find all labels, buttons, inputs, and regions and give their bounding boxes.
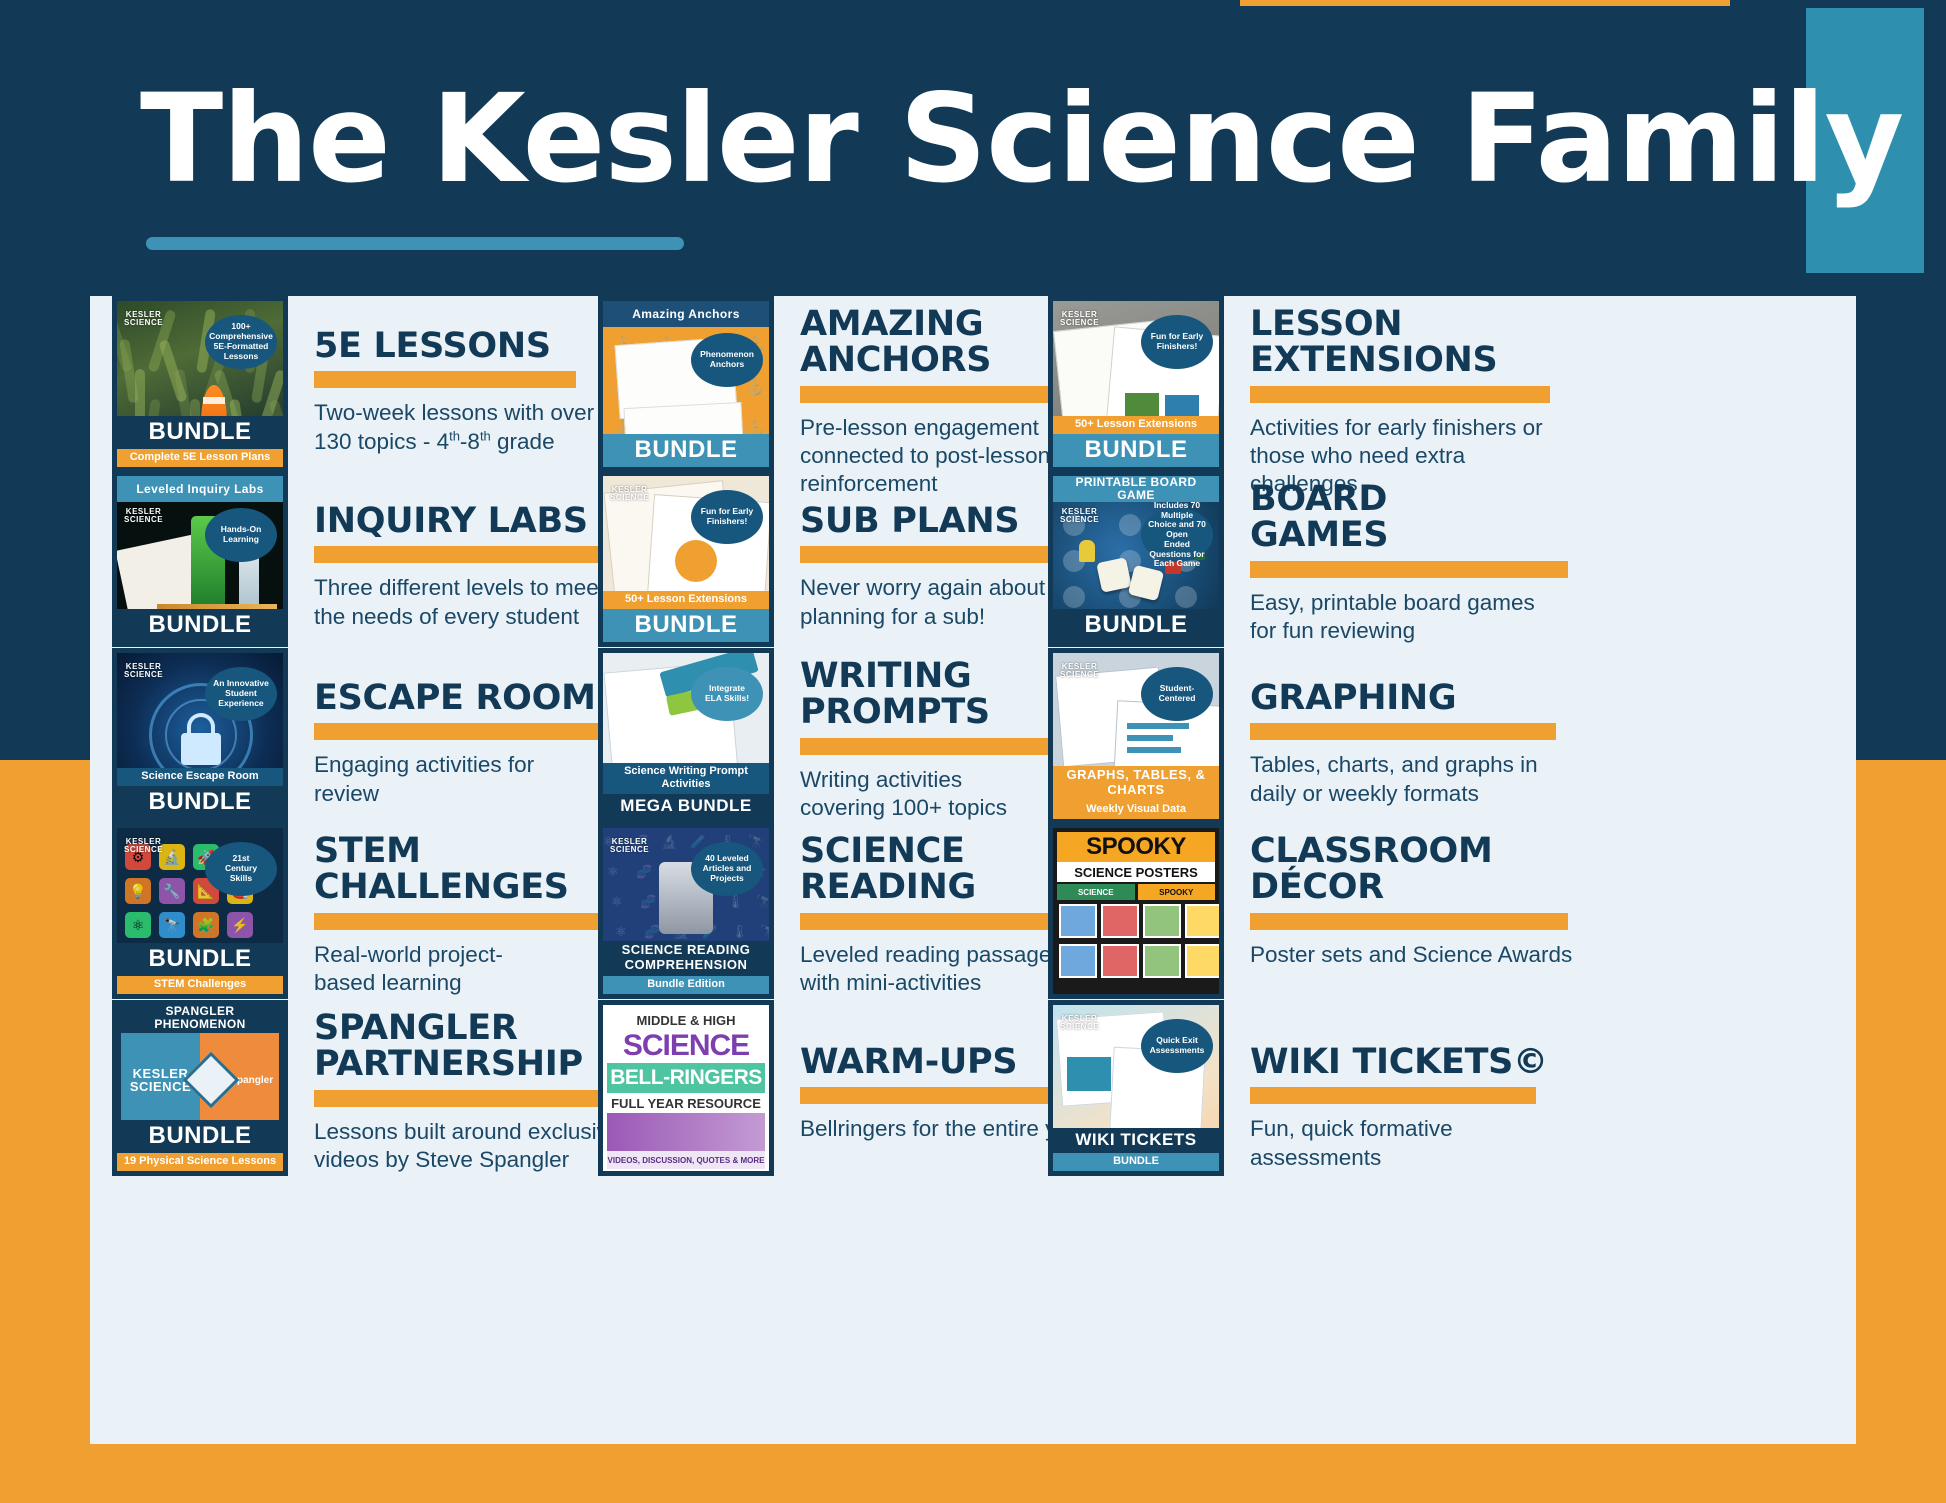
page-title: The Kesler Science Family [140, 78, 1903, 200]
thumbnail-header-label: PRINTABLE BOARD GAME [1053, 476, 1219, 502]
science-doodle: 🔬 [661, 834, 677, 850]
thumbnail-bundle-label: BUNDLE [117, 943, 283, 976]
product-description: Three different levels to meetthe needs … [314, 574, 614, 631]
decor-spooky-title: SPOOKY [1057, 832, 1215, 862]
thumbnail-footer: BUNDLEComplete 5E Lesson Plans [117, 416, 283, 467]
kesler-science-logo: KESLERSCIENCE [124, 838, 163, 854]
poster-tile [1185, 944, 1223, 978]
product-text-escape-rooms: ESCAPE ROOMSEngaging activities forrevie… [314, 648, 630, 808]
thumbnail-sub-label: Science Writing Prompt Activities [603, 763, 769, 794]
product-text-stem-challenges: STEM CHALLENGESReal-world project-based … [314, 823, 632, 997]
products-panel: 100+Comprehensive5E-FormattedLessonsKESL… [90, 296, 1856, 1444]
product-thumbnail[interactable]: SPOOKYSCIENCE POSTERSSCIENCESPOOKY [1048, 823, 1224, 999]
thumbnail-bundle-label: SCIENCE READINGCOMPREHENSION [603, 941, 769, 976]
thumbnail-footer: BUNDLE [117, 609, 283, 642]
science-doodle: 🌡 [731, 924, 748, 940]
product-card-stem-challenges[interactable]: ⚙🔬🚀🧪💡🔧📐🧲⚛🔭🧩⚡21stCenturySkillsKESLERSCIEN… [112, 823, 632, 999]
kesler-science-logo: KESLERSCIENCE [124, 311, 163, 327]
kesler-science-logo: KESLERSCIENCE [1060, 663, 1099, 679]
board-space [1063, 586, 1085, 608]
product-accent-bar [1250, 723, 1556, 740]
thumbnail-artwork: ⚓⚓⚓⚓⚓⚓⚓⚓⚓⚓⚓⚓Amazing AnchorsPhenomenonAnc… [603, 301, 769, 467]
product-thumbnail[interactable]: An InnovativeStudentExperienceKESLERSCIE… [112, 648, 288, 824]
product-accent-bar [1250, 386, 1550, 403]
science-doodle: ⚛ [607, 864, 619, 880]
stem-icon: 🧩 [193, 912, 219, 938]
thumbnail-footer: 50+ Lesson ExtensionsBUNDLE [603, 591, 769, 642]
science-doodle: ⚛ [611, 894, 623, 910]
thumbnail-bundle-label: BUNDLE [117, 786, 283, 819]
kesler-science-logo: KESLERSCIENCE [1060, 1015, 1099, 1031]
thumbnail-sub-label: STEM Challenges [117, 976, 283, 994]
thumbnail-bundle-label: BUNDLE [1053, 434, 1219, 467]
thumbnail-bundle-label: WIKI TICKETS [1053, 1128, 1219, 1153]
product-title: SPANGLER PARTNERSHIP [314, 1010, 620, 1083]
stem-icon: ⚡ [227, 912, 253, 938]
warmups-line3: BELL-RINGERS [607, 1063, 765, 1093]
product-description: Lessons built around exclusivevideos by … [314, 1118, 620, 1175]
product-accent-bar [1250, 913, 1568, 930]
thumbnail-badge: An InnovativeStudentExperience [205, 667, 277, 721]
science-doodle: 🧬 [636, 864, 652, 880]
product-description: Two-week lessons with over130 topics - 4… [314, 399, 594, 456]
thumbnail-badge: Student-Centered [1141, 667, 1213, 721]
meeple-yellow [1079, 540, 1095, 562]
product-title: WIKI TICKETS© [1250, 1044, 1548, 1080]
stem-icon: ⚛ [125, 912, 151, 938]
product-thumbnail[interactable]: MIDDLE & HIGHSCIENCEBELL-RINGERSFULL YEA… [598, 1000, 774, 1176]
thumbnail-bundle-label: BUNDLE [603, 609, 769, 642]
thumbnail-bundle-label: BUNDLE [117, 609, 283, 642]
decor-tag-science: SCIENCE [1057, 884, 1135, 900]
thumbnail-sub-label: Weekly Visual Data [1053, 801, 1219, 819]
thumbnail-badge: IntegrateELA Skills! [691, 667, 763, 721]
thumbnail-artwork: Quick ExitAssessmentsKESLERSCIENCEWIKI T… [1053, 1005, 1219, 1171]
thumbnail-bundle-label: BUNDLE [603, 434, 769, 467]
product-card-5e-lessons[interactable]: 100+Comprehensive5E-FormattedLessonsKESL… [112, 296, 594, 472]
product-card-spangler-partnership[interactable]: KESLERSCIENCEstevespanglerSPANGLER PHENO… [112, 1000, 620, 1176]
product-title: GRAPHING [1250, 680, 1556, 716]
product-card-wiki-tickets[interactable]: Quick ExitAssessmentsKESLERSCIENCEWIKI T… [1048, 1000, 1548, 1176]
thumbnail-artwork: SPOOKYSCIENCE POSTERSSCIENCESPOOKY [1053, 828, 1219, 994]
thumbnail-bundle-label: BUNDLE [117, 1120, 283, 1153]
decor-subtitle: SCIENCE POSTERS [1057, 862, 1215, 882]
thumbnail-artwork: KESLERSCIENCEstevespanglerSPANGLER PHENO… [117, 1005, 283, 1171]
poster-header: The Kesler Science Family [0, 0, 1946, 290]
poster-tile [1143, 904, 1181, 938]
thumbnail-sub-label: 50+ Lesson Extensions [603, 591, 769, 609]
product-accent-bar [314, 723, 630, 740]
product-text-graphing: GRAPHINGTables, charts, and graphs indai… [1250, 648, 1556, 808]
product-thumbnail[interactable]: ⚙🔬🚀🧪💡🔧📐🧲⚛🔭🧩⚡21stCenturySkillsKESLERSCIEN… [112, 823, 288, 999]
product-card-graphing[interactable]: Student-CenteredKESLERSCIENCEGRAPHS, TAB… [1048, 648, 1556, 824]
thumbnail-footer: BUNDLESTEM Challenges [117, 943, 283, 994]
product-title: LESSON EXTENSIONS [1250, 306, 1550, 379]
product-title: 5E LESSONS [314, 328, 594, 364]
die-1 [1096, 557, 1132, 593]
product-card-writing-prompts[interactable]: IntegrateELA Skills!Science Writing Prom… [598, 648, 1120, 824]
science-doodle: 🧬 [640, 894, 656, 910]
extension-photo-1 [1125, 393, 1159, 419]
thumbnail-badge: Includes 70 MultipleChoice and 70 OpenEn… [1141, 508, 1213, 562]
kesler-science-logo: KESLERSCIENCE [1060, 508, 1099, 524]
science-doodle: 🌡 [727, 894, 744, 910]
thumbnail-footer: Science Escape RoomBUNDLE [117, 768, 283, 819]
product-thumbnail[interactable]: Fun for EarlyFinishers!KESLERSCIENCE50+ … [1048, 296, 1224, 472]
thumbnail-footer: WIKI TICKETSBUNDLE [1053, 1128, 1219, 1171]
board-space [1175, 586, 1197, 608]
kesler-science-logo: KESLERSCIENCE [124, 663, 163, 679]
warmups-footer: VIDEOS, DISCUSSION, QUOTES & MORE [607, 1151, 765, 1169]
product-description: Fun, quick formativeassessments [1250, 1115, 1548, 1172]
product-text-lesson-extensions: LESSON EXTENSIONSActivities for early fi… [1250, 296, 1550, 499]
graph-bar-3 [1127, 747, 1181, 753]
thumbnail-footer: SCIENCE READINGCOMPREHENSIONBundle Editi… [603, 941, 769, 994]
thumbnail-footer: BUNDLE [603, 434, 769, 467]
thumbnail-badge: 100+Comprehensive5E-FormattedLessons [205, 315, 277, 369]
thumbnail-artwork: An InnovativeStudentExperienceKESLERSCIE… [117, 653, 283, 819]
warmups-line2: SCIENCE [607, 1029, 765, 1063]
poster-tile [1143, 944, 1181, 978]
stem-icon: 🔭 [159, 912, 185, 938]
product-description: Engaging activities forreview [314, 751, 630, 808]
thumbnail-badge: 21stCenturySkills [205, 842, 277, 896]
poster-tile [1101, 944, 1139, 978]
product-text-inquiry-labs: INQUIRY LABSThree different levels to me… [314, 471, 614, 631]
product-accent-bar [314, 371, 576, 388]
thumbnail-bundle-label: GRAPHS, TABLES, &CHARTS [1053, 766, 1219, 801]
science-doodle: 🔭 [760, 924, 774, 940]
thumbnail-badge: Quick ExitAssessments [1141, 1019, 1213, 1073]
product-thumbnail[interactable]: Leveled Inquiry LabsHands-OnLearningKESL… [112, 471, 288, 647]
product-card-lesson-extensions[interactable]: Fun for EarlyFinishers!KESLERSCIENCE50+ … [1048, 296, 1550, 499]
warmups-line1: MIDDLE & HIGH [607, 1009, 765, 1031]
product-thumbnail[interactable]: KESLERSCIENCEstevespanglerSPANGLER PHENO… [112, 1000, 288, 1176]
kesler-science-logo: KESLERSCIENCE [610, 838, 649, 854]
stem-icon: 🔧 [159, 878, 185, 904]
product-card-board-games[interactable]: PRINTABLE BOARD GAMEIncludes 70 Multiple… [1048, 471, 1568, 647]
poster-tile [1101, 904, 1139, 938]
poster-tile [1185, 904, 1223, 938]
product-thumbnail[interactable]: 100+Comprehensive5E-FormattedLessonsKESL… [112, 296, 288, 472]
thumbnail-artwork: ⚙🔬🚀🧪💡🔧📐🧲⚛🔭🧩⚡21stCenturySkillsKESLERSCIEN… [117, 828, 283, 994]
product-text-5e-lessons: 5E LESSONSTwo-week lessons with over130 … [314, 296, 594, 456]
thumbnail-header-label: SPANGLER PHENOMENON [117, 1005, 283, 1031]
kesler-science-logo: KESLERSCIENCE [610, 486, 649, 502]
thumbnail-footer: BUNDLE [1053, 609, 1219, 642]
product-thumbnail[interactable]: Student-CenteredKESLERSCIENCEGRAPHS, TAB… [1048, 648, 1224, 824]
product-accent-bar [314, 913, 632, 930]
product-thumbnail[interactable]: IntegrateELA Skills!Science Writing Prom… [598, 648, 774, 824]
thumbnail-badge: Fun for EarlyFinishers! [691, 490, 763, 544]
product-title: BOARD GAMES [1250, 481, 1568, 554]
thumbnail-sub-label: 19 Physical Science Lessons [117, 1153, 283, 1171]
thumbnail-footer: BUNDLE19 Physical Science Lessons [117, 1120, 283, 1171]
thumbnail-badge: Hands-OnLearning [205, 508, 277, 562]
thumbnail-artwork: 100+Comprehensive5E-FormattedLessonsKESL… [117, 301, 283, 467]
product-thumbnail[interactable]: ⚓⚓⚓⚓⚓⚓⚓⚓⚓⚓⚓⚓Amazing AnchorsPhenomenonAnc… [598, 296, 774, 472]
title-underline-rule [146, 237, 684, 250]
thumbnail-sub-label: BUNDLE [1053, 1153, 1219, 1171]
thumbnail-sub-label: Bundle Edition [603, 976, 769, 994]
product-text-spangler-partnership: SPANGLER PARTNERSHIPLessons built around… [314, 1000, 620, 1174]
poster-tile [1059, 904, 1097, 938]
science-doodle: 🧬 [644, 924, 660, 940]
products-grid: 100+Comprehensive5E-FormattedLessonsKESL… [90, 296, 1856, 1444]
warmups-photo-strip [607, 1113, 765, 1155]
product-title: STEM CHALLENGES [314, 833, 632, 906]
thumbnail-footer: 50+ Lesson ExtensionsBUNDLE [1053, 416, 1219, 467]
thumbnail-artwork: Leveled Inquiry LabsHands-OnLearningKESL… [117, 476, 283, 642]
product-accent-bar [314, 1090, 614, 1107]
thumbnail-artwork: ⚛🧬🔬🧪🌡🔭⚛🧬🔬🧪🌡🔭⚛🧬🔬🧪🌡🔭⚛🧬🔬🧪🌡🔭40 LeveledArticl… [603, 828, 769, 994]
product-accent-bar [314, 546, 614, 563]
thumbnail-sub-label: 50+ Lesson Extensions [1053, 416, 1219, 434]
kesler-science-logo: KESLERSCIENCE [124, 508, 163, 524]
stem-icon: 💡 [125, 878, 151, 904]
product-description: Poster sets and Science Awards [1250, 941, 1572, 969]
product-title: INQUIRY LABS [314, 503, 614, 539]
thumbnail-bundle-label: BUNDLE [1053, 609, 1219, 642]
thumbnail-badge: 40 LeveledArticles andProjects [691, 842, 763, 896]
clownfish-stripe [203, 397, 225, 404]
graph-bar-1 [1127, 723, 1189, 729]
sub-plan-seal [675, 540, 717, 582]
science-doodle: 🔭 [756, 894, 772, 910]
product-card-amazing-anchors[interactable]: ⚓⚓⚓⚓⚓⚓⚓⚓⚓⚓⚓⚓Amazing AnchorsPhenomenonAnc… [598, 296, 1096, 499]
poster-tile [1059, 944, 1097, 978]
product-card-science-reading[interactable]: ⚛🧬🔬🧪🌡🔭⚛🧬🔬🧪🌡🔭⚛🧬🔬🧪🌡🔭⚛🧬🔬🧪🌡🔭40 LeveledArticl… [598, 823, 1100, 999]
thumbnail-footer: GRAPHS, TABLES, &CHARTSWeekly Visual Dat… [1053, 766, 1219, 819]
decor-tag-row: SCIENCESPOOKY [1057, 884, 1215, 900]
product-text-board-games: BOARD GAMESEasy, printable board gamesfo… [1250, 471, 1568, 645]
thumbnail-sub-label: Complete 5E Lesson Plans [117, 449, 283, 467]
product-title: CLASSROOM DÉCOR [1250, 833, 1572, 906]
thumbnail-artwork: Fun for EarlyFinishers!KESLERSCIENCE50+ … [603, 476, 769, 642]
product-thumbnail[interactable]: Quick ExitAssessmentsKESLERSCIENCEWIKI T… [1048, 1000, 1224, 1176]
science-doodle: ⚛ [615, 924, 627, 940]
board-space [1119, 514, 1141, 536]
thumbnail-badge: PhenomenonAnchors [691, 333, 763, 387]
poster-page: The Kesler Science Family 100+Comprehens… [0, 0, 1946, 1503]
graph-bar-2 [1127, 735, 1173, 741]
kesler-science-logo: KESLERSCIENCE [1060, 311, 1099, 327]
product-description: Real-world project-based learning [314, 941, 632, 998]
product-description: Tables, charts, and graphs indaily or we… [1250, 751, 1556, 808]
thumbnail-footer: Science Writing Prompt ActivitiesMEGA BU… [603, 763, 769, 819]
product-card-sub-plans[interactable]: Fun for EarlyFinishers!KESLERSCIENCE50+ … [598, 471, 1106, 647]
thumbnail-artwork: PRINTABLE BOARD GAMEIncludes 70 Multiple… [1053, 476, 1219, 642]
product-card-warm-ups[interactable]: MIDDLE & HIGHSCIENCEBELL-RINGERSFULL YEA… [598, 1000, 1100, 1176]
product-card-escape-rooms[interactable]: An InnovativeStudentExperienceKESLERSCIE… [112, 648, 630, 824]
product-thumbnail[interactable]: PRINTABLE BOARD GAMEIncludes 70 Multiple… [1048, 471, 1224, 647]
product-title: ESCAPE ROOMS [314, 680, 630, 716]
product-thumbnail[interactable]: Fun for EarlyFinishers!KESLERSCIENCE50+ … [598, 471, 774, 647]
thumbnail-header-label: Leveled Inquiry Labs [117, 476, 283, 502]
thumbnail-artwork: MIDDLE & HIGHSCIENCEBELL-RINGERSFULL YEA… [603, 1005, 769, 1171]
product-thumbnail[interactable]: ⚛🧬🔬🧪🌡🔭⚛🧬🔬🧪🌡🔭⚛🧬🔬🧪🌡🔭⚛🧬🔬🧪🌡🔭40 LeveledArticl… [598, 823, 774, 999]
thumbnail-artwork: IntegrateELA Skills!Science Writing Prom… [603, 653, 769, 819]
product-description: Easy, printable board gamesfor fun revie… [1250, 589, 1568, 646]
padlock-body [181, 733, 221, 765]
product-accent-bar [1250, 1087, 1536, 1104]
thumbnail-header-label: Amazing Anchors [603, 301, 769, 327]
thumbnail-artwork: Student-CenteredKESLERSCIENCEGRAPHS, TAB… [1053, 653, 1219, 819]
thumbnail-bundle-label: MEGA BUNDLE [603, 794, 769, 819]
warmups-line4: FULL YEAR RESOURCE [607, 1093, 765, 1113]
thumbnail-bundle-label: BUNDLE [117, 416, 283, 449]
thumbnail-badge: Fun for EarlyFinishers! [1141, 315, 1213, 369]
product-accent-bar [1250, 561, 1568, 578]
thumbnail-artwork: Fun for EarlyFinishers!KESLERSCIENCE50+ … [1053, 301, 1219, 467]
product-text-classroom-decor: CLASSROOM DÉCORPoster sets and Science A… [1250, 823, 1572, 969]
padlock-shackle [187, 713, 215, 735]
decor-tag-spooky: SPOOKY [1138, 884, 1216, 900]
wiki-photo [1067, 1057, 1111, 1091]
product-text-wiki-tickets: WIKI TICKETS©Fun, quick formativeassessm… [1250, 1000, 1548, 1172]
product-card-classroom-decor[interactable]: SPOOKYSCIENCE POSTERSSCIENCESPOOKYCLASSR… [1048, 823, 1572, 999]
thumbnail-sub-label: Science Escape Room [117, 768, 283, 786]
product-card-inquiry-labs[interactable]: Leveled Inquiry LabsHands-OnLearningKESL… [112, 471, 614, 647]
